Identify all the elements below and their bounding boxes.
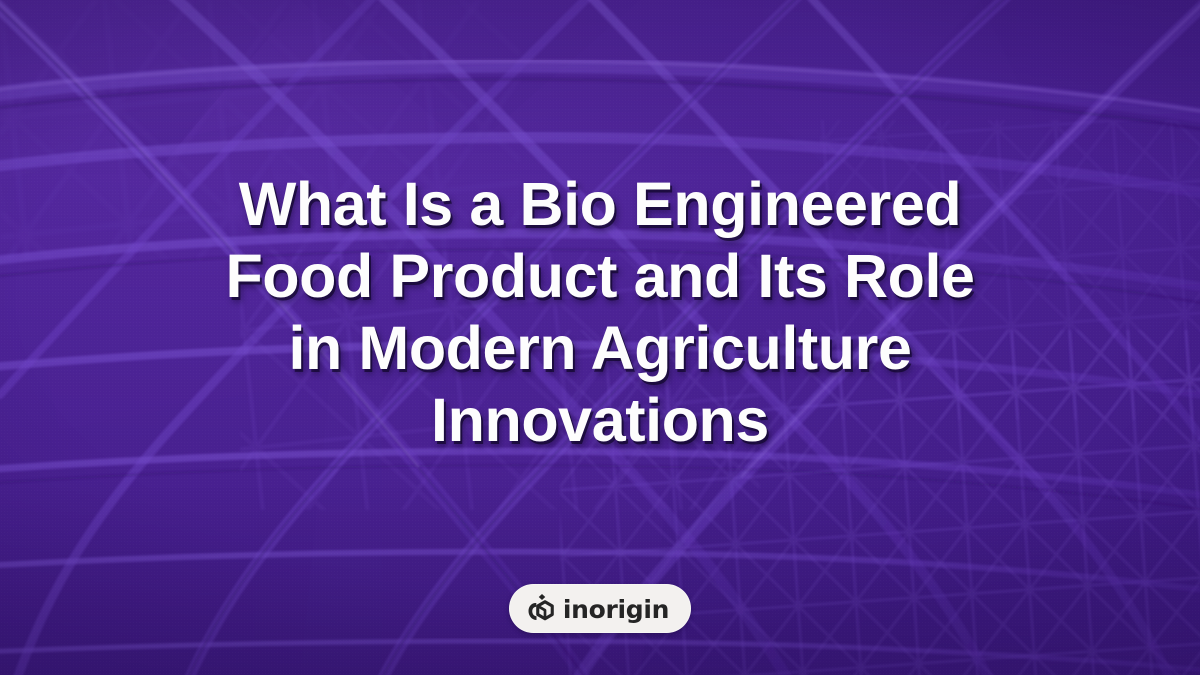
brand-wordmark: inorigin: [563, 597, 669, 622]
logo-container: inorigin: [0, 584, 1200, 633]
page-title: What Is a Bio Engineered Food Product an…: [0, 168, 1200, 456]
title-line-1: What Is a Bio Engineered: [46, 168, 1154, 240]
title-line-2: Food Product and Its Role: [46, 240, 1154, 312]
title-line-3: in Modern Agriculture: [46, 312, 1154, 384]
blog-header-card: What Is a Bio Engineered Food Product an…: [0, 0, 1200, 675]
hexagon-cube-icon: [527, 594, 554, 624]
title-line-4: Innovations: [46, 384, 1154, 456]
brand-logo-badge[interactable]: inorigin: [509, 584, 691, 633]
